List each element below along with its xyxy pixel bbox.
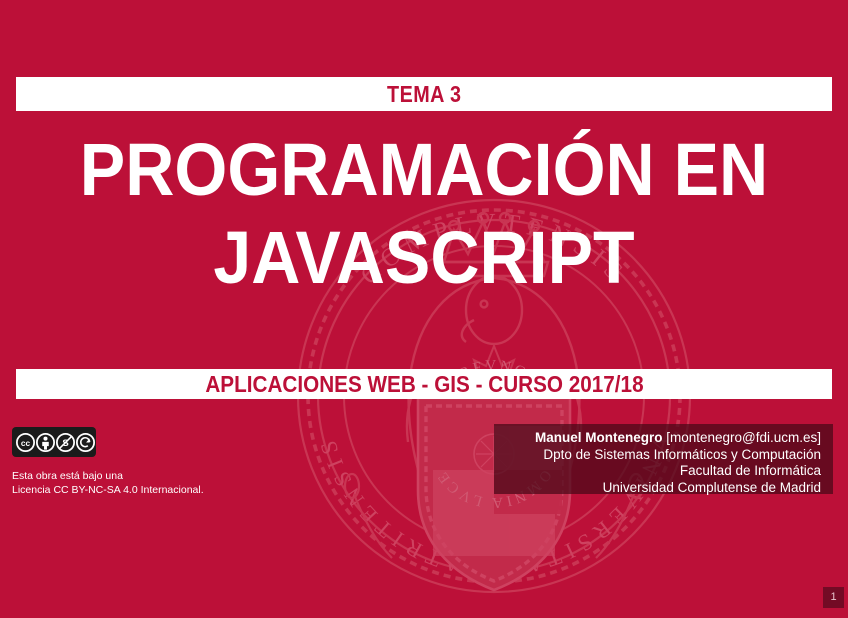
slide-canvas: COMPLVTENSIS VNIVERSITAS MATRITENSIS xyxy=(0,0,848,618)
svg-text:cc: cc xyxy=(20,437,30,447)
license-block: cc S Esta obra está bajo una Licencia CC xyxy=(12,427,312,497)
subtitle-bar: APLICACIONES WEB - GIS - CURSO 2017/18 xyxy=(16,369,832,399)
subtitle-label: APLICACIONES WEB - GIS - CURSO 2017/18 xyxy=(205,371,643,398)
cc-icon: cc xyxy=(16,433,35,452)
page-number: 1 xyxy=(830,592,836,603)
by-icon xyxy=(36,433,55,452)
author-faculty: Facultad de Informática xyxy=(504,463,821,480)
page-number-badge: 1 xyxy=(823,587,844,608)
author-university: Universidad Complutense de Madrid xyxy=(504,480,821,497)
author-email[interactable]: [montenegro@fdi.ucm.es] xyxy=(666,430,821,445)
sa-icon xyxy=(76,433,95,452)
title-line-1: PROGRAMACIÓN EN xyxy=(34,126,814,214)
author-box: Manuel Montenegro [montenegro@fdi.ucm.es… xyxy=(494,424,833,494)
page-title: PROGRAMACIÓN EN JAVASCRIPT xyxy=(34,126,814,302)
creative-commons-badge[interactable]: cc S xyxy=(12,427,96,457)
author-name-line: Manuel Montenegro [montenegro@fdi.ucm.es… xyxy=(504,430,821,447)
nc-icon: S xyxy=(56,433,75,452)
author-name: Manuel Montenegro xyxy=(535,430,663,445)
author-department: Dpto de Sistemas Informáticos y Computac… xyxy=(504,447,821,464)
license-text: Esta obra está bajo una Licencia CC BY-N… xyxy=(12,469,312,497)
title-line-2: JAVASCRIPT xyxy=(34,214,814,302)
tema-bar: TEMA 3 xyxy=(16,77,832,111)
tema-label: TEMA 3 xyxy=(387,81,461,108)
